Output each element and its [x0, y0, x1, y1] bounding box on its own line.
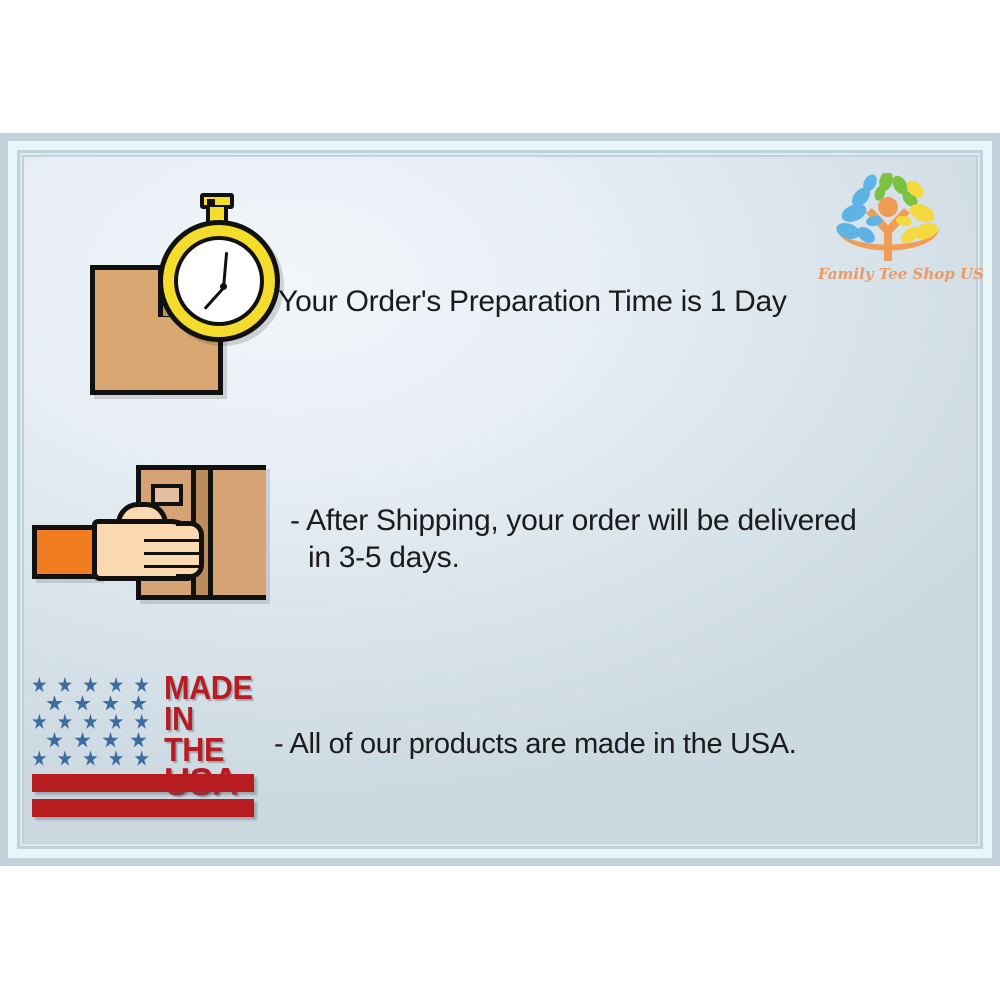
star-icon	[58, 677, 73, 694]
made-in-usa-badge-icon: MADE IN THE USA	[24, 672, 264, 817]
info-text-preparation-time: - Your Order's Preparation Time is 1 Day	[261, 284, 998, 321]
stopwatch-dial	[158, 220, 280, 342]
star-icon	[134, 677, 149, 694]
stopwatch-box-icon	[38, 187, 253, 417]
info-row-preparation-time: - Your Order's Preparation Time is 1 Day	[38, 177, 998, 427]
star-icon	[130, 732, 147, 749]
star-icon	[109, 750, 124, 767]
star-icon	[74, 732, 91, 749]
info-line: - Your Order's Preparation Time is 1 Day	[261, 284, 998, 321]
badge-line-made: MADE	[164, 672, 262, 703]
stopwatch-face	[174, 236, 264, 326]
star-icon	[58, 713, 73, 730]
star-icon	[134, 713, 149, 730]
star-icon	[102, 695, 119, 712]
star-icon	[109, 677, 124, 694]
star-icon	[109, 713, 124, 730]
star-row	[32, 750, 160, 768]
star-icon	[32, 677, 47, 694]
hand-finger-line	[144, 539, 202, 542]
flag-stars-field	[32, 676, 160, 768]
star-icon	[102, 732, 119, 749]
star-row	[32, 676, 160, 694]
star-icon	[134, 750, 149, 767]
info-row-made-in-usa: MADE IN THE USA - All of our products ar…	[24, 662, 1000, 827]
badge-line-in-the: IN THE	[164, 703, 262, 765]
star-icon	[83, 750, 98, 767]
flag-stripe	[32, 774, 254, 792]
hand-holding-box-icon	[24, 457, 274, 622]
flag-stripe	[32, 799, 254, 817]
hand-knuckles-shape	[176, 521, 204, 579]
star-icon	[32, 713, 47, 730]
star-icon	[83, 677, 98, 694]
shipping-box-label	[151, 484, 183, 506]
shipping-info-banner: Family Tee Shop US	[0, 133, 1000, 866]
page-canvas: Family Tee Shop US	[0, 0, 1000, 1000]
info-text-delivery-time: - After Shipping, your order will be del…	[290, 503, 1000, 576]
arm-sleeve-shape	[32, 525, 100, 579]
star-row	[32, 731, 160, 749]
star-icon	[46, 695, 63, 712]
star-row	[32, 713, 160, 731]
info-line: in 3-5 days.	[290, 540, 1000, 577]
hand-finger-line	[144, 565, 202, 568]
info-row-delivery-time: - After Shipping, your order will be del…	[24, 452, 1000, 627]
star-icon	[83, 713, 98, 730]
shipping-box-light-panel	[213, 470, 266, 595]
info-line: - After Shipping, your order will be del…	[290, 503, 1000, 540]
star-icon	[46, 732, 63, 749]
hand-finger-line	[144, 552, 202, 555]
banner-content-field: Family Tee Shop US	[24, 157, 976, 842]
star-icon	[74, 695, 91, 712]
info-line: - All of our products are made in the US…	[274, 727, 1000, 762]
stopwatch-pivot	[220, 283, 227, 290]
star-row	[32, 694, 160, 712]
star-icon	[32, 750, 47, 767]
star-icon	[58, 750, 73, 767]
stopwatch-hour-hand	[204, 287, 225, 310]
star-icon	[130, 695, 147, 712]
info-text-made-in-usa: - All of our products are made in the US…	[274, 727, 1000, 762]
